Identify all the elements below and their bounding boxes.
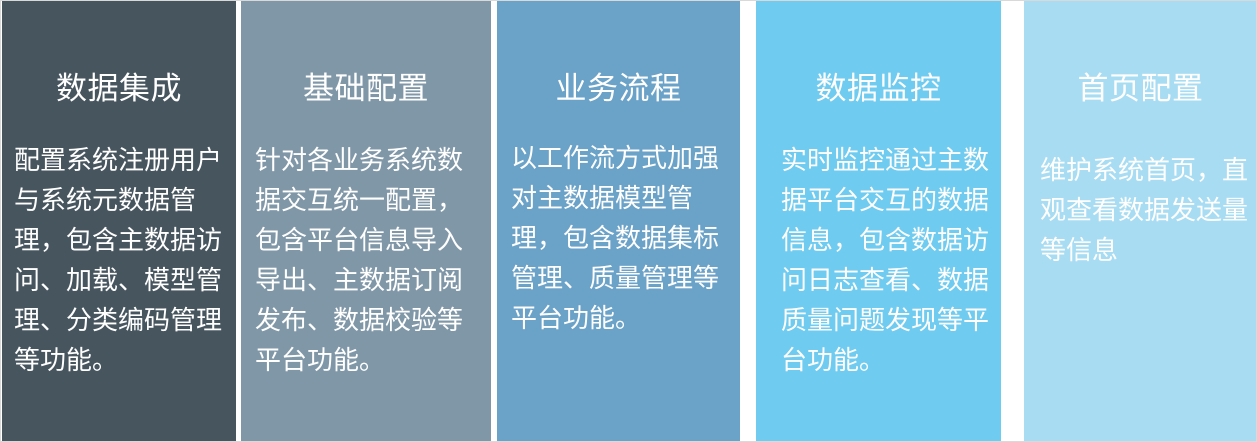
panel-description: 配置系统注册用户与系统元数据管理，包含主数据访问、加载、模型管理、分类编码管理等… — [14, 141, 228, 381]
feature-panel-business-process[interactable]: 业务流程 以工作流方式加强对主数据模型管理，包含数据集标管理、质量管理等平台功能… — [497, 1, 740, 442]
panel-description: 以工作流方式加强对主数据模型管理，包含数据集标管理、质量管理等平台功能。 — [511, 139, 734, 339]
feature-panel-data-integration[interactable]: 数据集成 配置系统注册用户与系统元数据管理，包含主数据访问、加载、模型管理、分类… — [2, 1, 236, 442]
panel-title: 基础配置 — [241, 69, 491, 109]
feature-panels-banner: 数据集成 配置系统注册用户与系统元数据管理，包含主数据访问、加载、模型管理、分类… — [0, 0, 1257, 442]
panel-description: 针对各业务系统数据交互统一配置，包含平台信息导入导出、主数据订阅发布、数据校验等… — [255, 141, 485, 381]
panel-title: 数据监控 — [756, 69, 1001, 109]
panel-title: 数据集成 — [2, 69, 236, 109]
panel-title: 业务流程 — [497, 69, 740, 109]
feature-panel-homepage-configuration[interactable]: 首页配置 维护系统首页，直观查看数据发送量等信息 — [1024, 1, 1257, 442]
feature-panel-data-monitoring[interactable]: 数据监控 实时监控通过主数据平台交互的数据信息，包含数据访问日志查看、数据质量问… — [756, 1, 1001, 442]
panel-description: 实时监控通过主数据平台交互的数据信息，包含数据访问日志查看、数据质量问题发现等平… — [781, 141, 997, 381]
feature-panel-basic-configuration[interactable]: 基础配置 针对各业务系统数据交互统一配置，包含平台信息导入导出、主数据订阅发布、… — [241, 1, 491, 442]
panel-title: 首页配置 — [1024, 69, 1257, 109]
panel-description: 维护系统首页，直观查看数据发送量等信息 — [1040, 151, 1251, 271]
